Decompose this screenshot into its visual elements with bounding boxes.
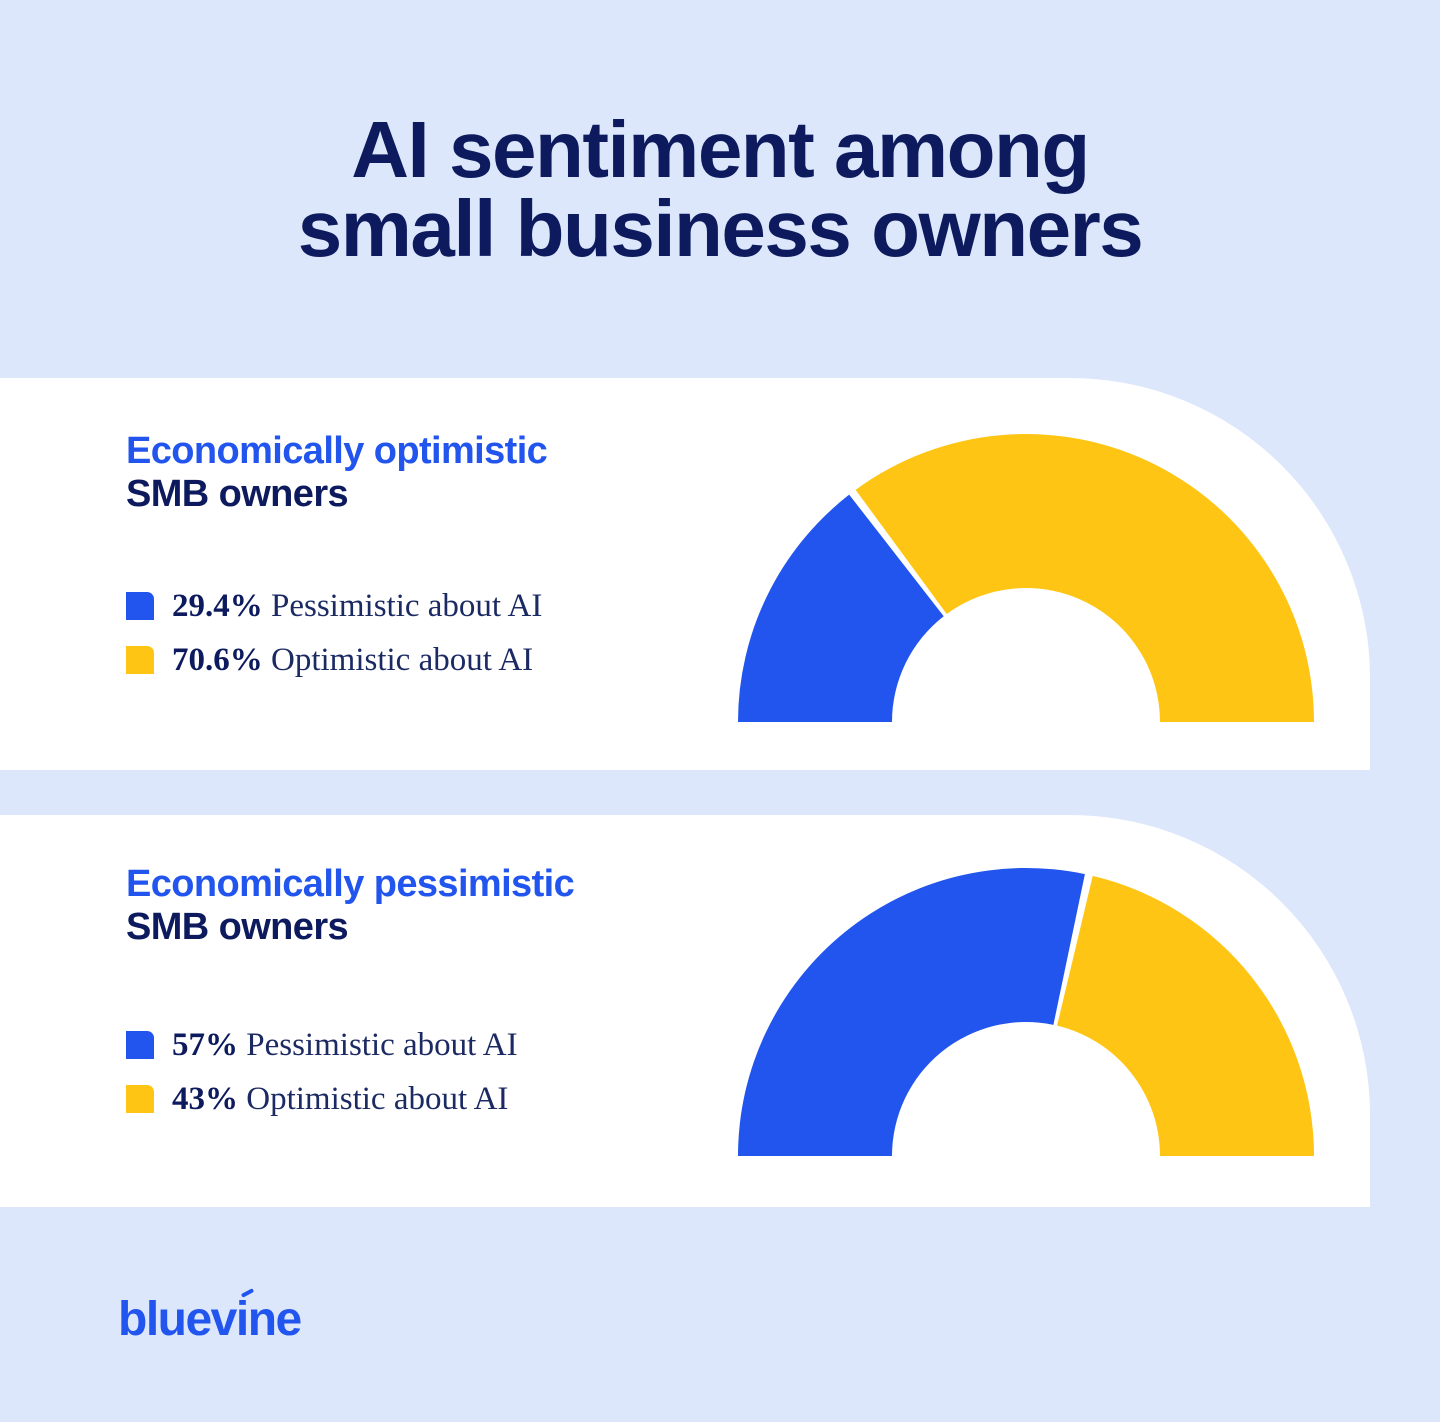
legend-percent: 57% [172,1027,238,1063]
legend-percent: 29.4% [172,588,263,624]
logo-text-part-1: bluev [118,1293,236,1346]
panel-text-column: Economically pessimistic SMB owners 57% … [126,863,726,1126]
legend-item: 70.6% Optimistic about AI [126,633,726,687]
legend-item: 57% Pessimistic about AI [126,1018,726,1072]
yellow-square-swatch [126,1085,154,1113]
panel-card-optimistic: Economically optimistic SMB owners 29.4%… [0,378,1370,770]
legend-item: 29.4% Pessimistic about AI [126,579,726,633]
panel-heading-accent: Economically pessimistic [126,863,726,906]
legend-label: 70.6% Optimistic about AI [172,644,533,677]
panel-text-column: Economically optimistic SMB owners 29.4%… [126,430,726,687]
panel-heading-rest: SMB owners [126,906,726,949]
legend-description: Pessimistic about AI [238,1027,518,1063]
semicircle-gauge-chart [737,433,1315,723]
logo-accent-letter: i [236,1293,248,1346]
infographic-page: AI sentiment among small business owners… [0,0,1440,1422]
panel-heading-rest: SMB owners [126,473,726,516]
chart-legend: 29.4% Pessimistic about AI 70.6% Optimis… [126,579,726,687]
header-band: AI sentiment among small business owners [0,0,1440,378]
gauge-segment [1057,876,1314,1156]
panel-heading: Economically optimistic SMB owners [126,430,726,515]
blue-square-swatch [126,1031,154,1059]
semicircle-gauge-chart [737,867,1315,1157]
blue-square-swatch [126,592,154,620]
logo-text-part-2: ne [248,1293,301,1346]
legend-percent: 70.6% [172,642,263,678]
legend-label: 57% Pessimistic about AI [172,1029,518,1062]
legend-description: Optimistic about AI [263,642,533,678]
footer-band: bluevine [0,1207,1440,1422]
gauge-segment [738,868,1085,1156]
page-title: AI sentiment among small business owners [298,110,1142,268]
page-title-line-2: small business owners [298,189,1142,268]
panel-card-pessimistic: Economically pessimistic SMB owners 57% … [0,815,1370,1207]
legend-label: 43% Optimistic about AI [172,1083,508,1116]
chart-legend: 57% Pessimistic about AI 43% Optimistic … [126,1018,726,1126]
yellow-square-swatch [126,646,154,674]
legend-label: 29.4% Pessimistic about AI [172,590,542,623]
panel-heading-accent: Economically optimistic [126,430,726,473]
legend-description: Optimistic about AI [238,1081,508,1117]
legend-item: 43% Optimistic about AI [126,1072,726,1126]
bluevine-logo: bluevine [118,1292,301,1347]
legend-percent: 43% [172,1081,238,1117]
panel-heading: Economically pessimistic SMB owners [126,863,726,948]
legend-description: Pessimistic about AI [263,588,543,624]
gauge-segment [856,434,1314,722]
page-title-line-1: AI sentiment among [298,110,1142,189]
